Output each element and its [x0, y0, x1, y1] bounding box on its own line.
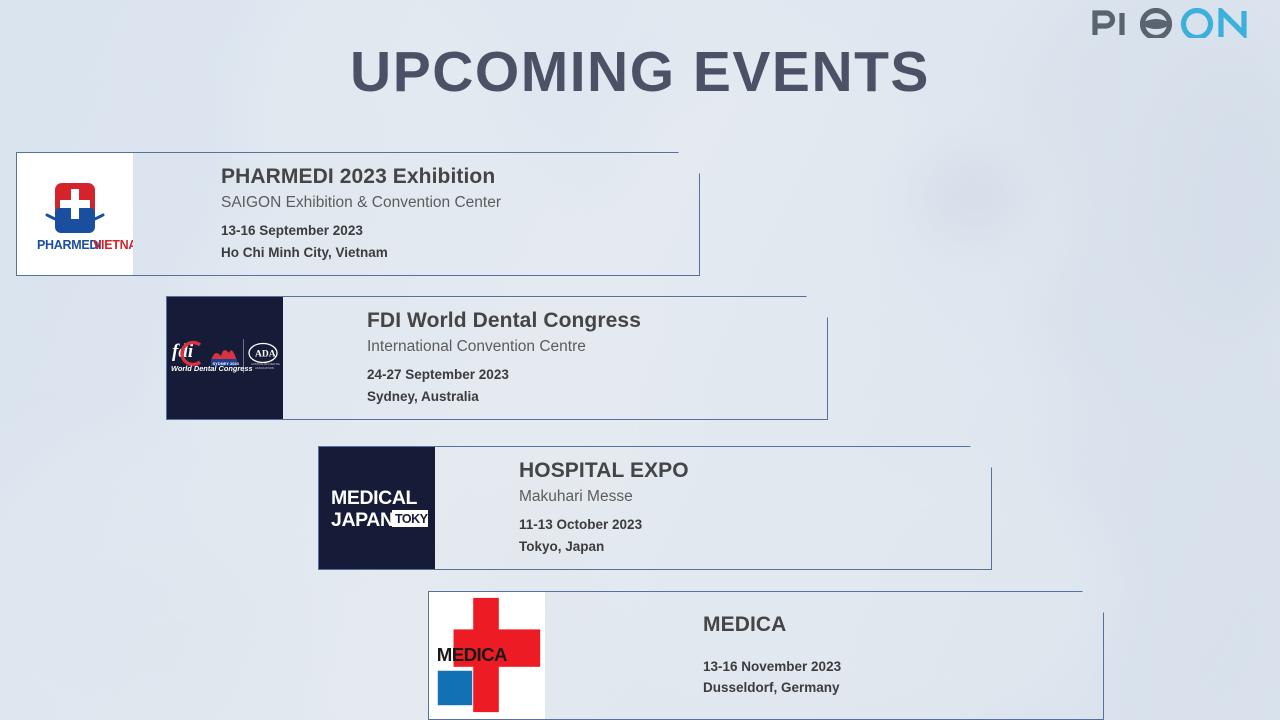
- event-place: Ho Chi Minh City, Vietnam: [221, 242, 689, 264]
- fdi-world-dental-congress-logo-icon: fdi SYDNEY 2023 ADA AUSTRALIAN DENTAL AS…: [167, 297, 283, 419]
- medical-japan-tokyo-logo-icon: MEDICAL JAPAN TOKYO: [319, 447, 435, 569]
- medica-logo-icon: MEDICA: [429, 592, 545, 719]
- svg-text:ASSOCIATION: ASSOCIATION: [255, 366, 274, 370]
- event-date: 24-27 September 2023: [367, 364, 817, 386]
- page-title: UPCOMING EVENTS: [0, 44, 1280, 101]
- event-logo-container: MEDICA: [429, 592, 545, 719]
- event-title: MEDICA: [703, 612, 1093, 639]
- event-logo-container: MEDICAL JAPAN TOKYO: [319, 447, 435, 569]
- event-date: 13-16 September 2023: [221, 220, 689, 242]
- event-place: Dusseldorf, Germany: [703, 677, 1093, 699]
- event-place: Tokyo, Japan: [519, 536, 981, 558]
- slide-canvas: UPCOMING EVENTS PHARMEDI VIETNAM PHARMED…: [0, 0, 1280, 720]
- event-details: FDI World Dental Congress International …: [283, 297, 827, 419]
- event-details: MEDICA 13-16 November 2023 Dusseldorf, G…: [545, 592, 1103, 719]
- event-card-hospital-expo[interactable]: MEDICAL JAPAN TOKYO HOSPITAL EXPO Makuha…: [318, 446, 992, 570]
- event-date: 11-13 October 2023: [519, 514, 981, 536]
- event-details: HOSPITAL EXPO Makuhari Messe 11-13 Octob…: [435, 447, 991, 569]
- event-details: PHARMEDI 2023 Exhibition SAIGON Exhibiti…: [133, 153, 699, 275]
- event-venue: SAIGON Exhibition & Convention Center: [221, 192, 689, 214]
- event-logo-container: PHARMEDI VIETNAM: [17, 153, 133, 275]
- event-venue: International Convention Centre: [367, 336, 817, 358]
- event-venue: Makuhari Messe: [519, 486, 981, 508]
- pharmedi-vietnam-logo-icon: PHARMEDI VIETNAM: [17, 153, 133, 275]
- event-title: HOSPITAL EXPO: [519, 458, 981, 485]
- event-date: 13-16 November 2023: [703, 656, 1093, 678]
- event-title: PHARMEDI 2023 Exhibition: [221, 164, 689, 191]
- svg-text:MEDICAL: MEDICAL: [331, 487, 418, 509]
- svg-text:TOKYO: TOKYO: [395, 512, 435, 526]
- event-logo-container: fdi SYDNEY 2023 ADA AUSTRALIAN DENTAL AS…: [167, 297, 283, 419]
- event-title: FDI World Dental Congress: [367, 308, 817, 335]
- event-card-fdi[interactable]: fdi SYDNEY 2023 ADA AUSTRALIAN DENTAL AS…: [166, 296, 828, 420]
- pioon-logo-icon: [1090, 8, 1262, 38]
- svg-text:ADA: ADA: [255, 350, 276, 360]
- svg-text:JAPAN: JAPAN: [331, 509, 394, 531]
- event-place: Sydney, Australia: [367, 386, 817, 408]
- event-card-medica[interactable]: MEDICA MEDICA 13-16 November 2023 Dussel…: [428, 591, 1104, 720]
- svg-text:MEDICA: MEDICA: [437, 644, 507, 665]
- pioon-brand-logo: [1090, 8, 1262, 38]
- svg-text:PHARMEDI: PHARMEDI: [37, 238, 101, 252]
- svg-text:World Dental Congress: World Dental Congress: [171, 364, 253, 373]
- event-card-pharmedi[interactable]: PHARMEDI VIETNAM PHARMEDI 2023 Exhibitio…: [16, 152, 700, 276]
- svg-text:VIETNAM: VIETNAM: [93, 238, 133, 252]
